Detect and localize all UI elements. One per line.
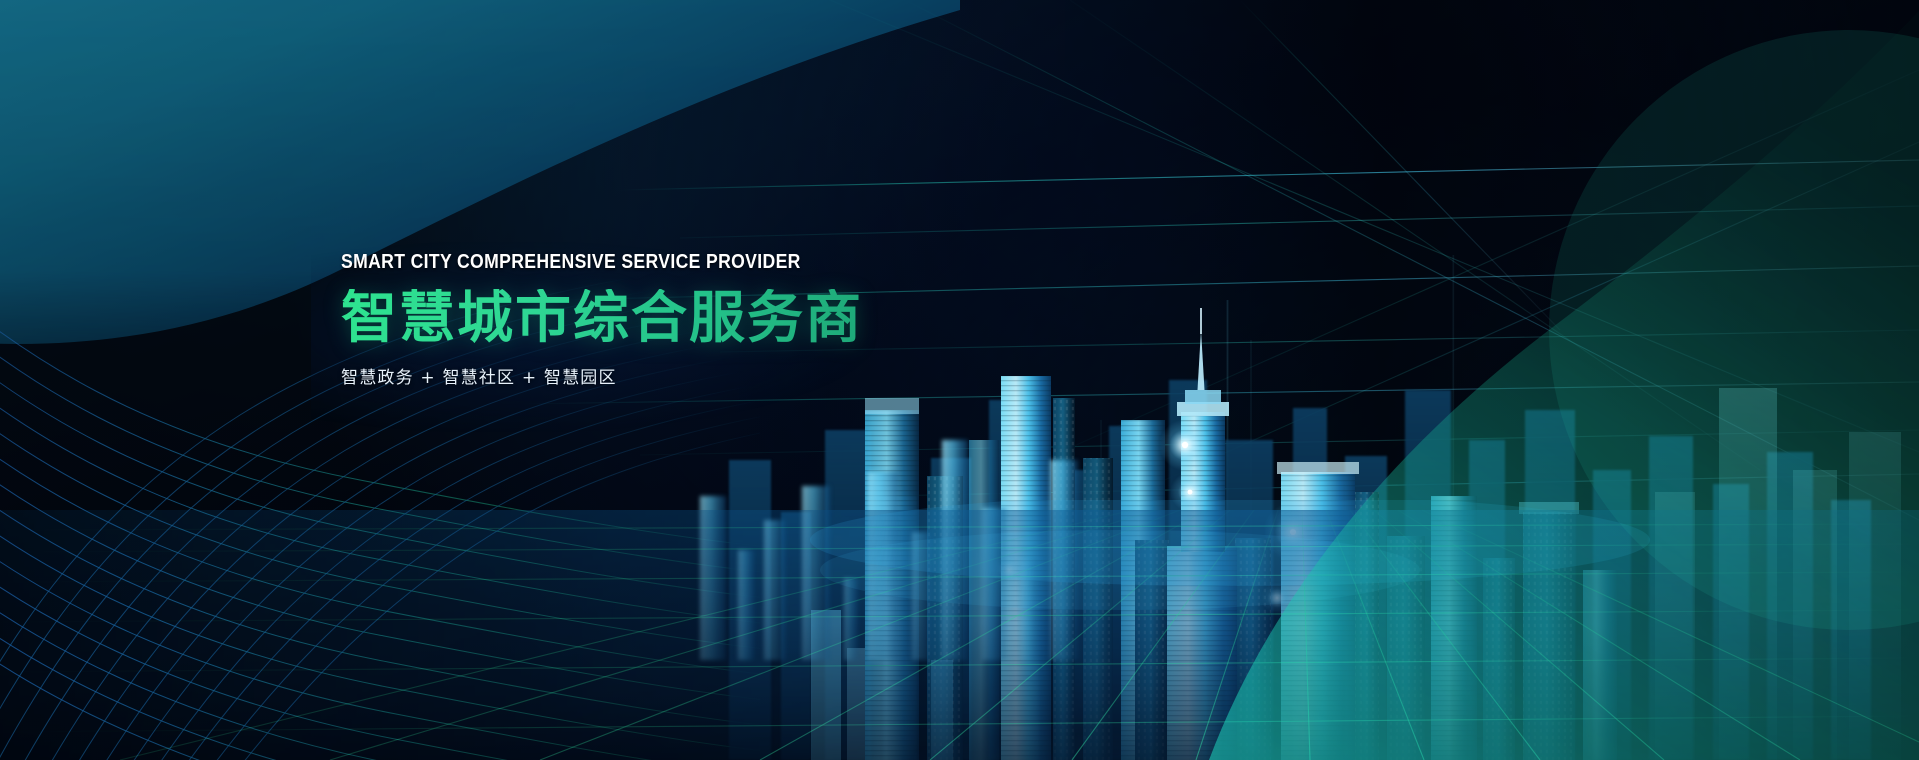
banner-subline: 智慧政务 + 智慧社区 + 智慧园区: [341, 363, 863, 388]
banner-copy-block: SMART CITY COMPREHENSIVE SERVICE PROVIDE…: [341, 252, 863, 388]
banner-headline: 智慧城市综合服务商: [341, 289, 863, 349]
smart-city-banner: SMART CITY COMPREHENSIVE SERVICE PROVIDE…: [0, 0, 1919, 760]
banner-eyebrow-english: SMART CITY COMPREHENSIVE SERVICE PROVIDE…: [341, 252, 801, 272]
green-gradient-overlay: [1209, 0, 1919, 760]
